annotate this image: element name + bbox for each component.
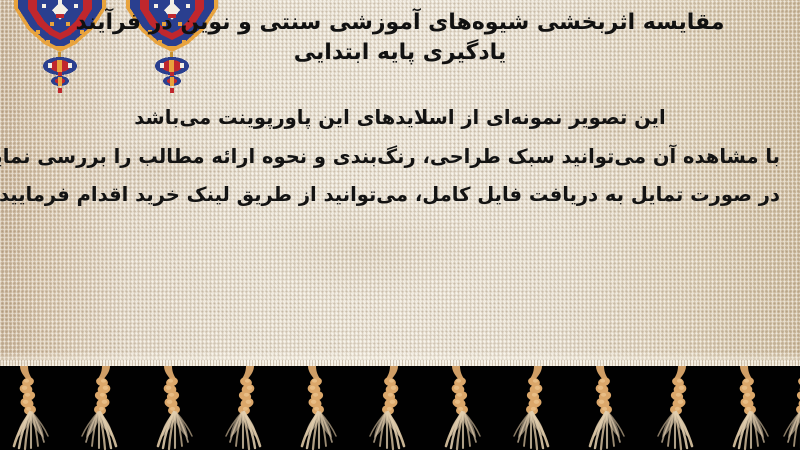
tassel-icon xyxy=(78,366,124,450)
tassel-icon xyxy=(438,366,484,450)
tassel-icon xyxy=(366,366,412,450)
tassel-icon xyxy=(726,366,772,450)
tassel-icon xyxy=(222,366,268,450)
tassel-icon xyxy=(6,366,52,450)
slide-canvas: مقایسه اثربخشی شیوه‌های آموزشی سنتی و نو… xyxy=(0,0,800,450)
tassel-icon xyxy=(294,366,340,450)
tassel-icon xyxy=(510,366,556,450)
carpet-fringe xyxy=(0,366,800,450)
tassel-icon xyxy=(150,366,196,450)
body-line-1: این تصویر نمونه‌ای از اسلایدهای این پاور… xyxy=(20,108,780,128)
slide-body: این تصویر نمونه‌ای از اسلایدهای این پاور… xyxy=(20,108,780,205)
page-title: مقایسه اثربخشی شیوه‌های آموزشی سنتی و نو… xyxy=(40,8,760,69)
body-line-2: با مشاهده آن می‌توانید سبک طراحی، رنگ‌بن… xyxy=(20,147,780,167)
tassel-icon xyxy=(780,366,800,450)
body-line-3: در صورت تمایل به دریافت فایل کامل، می‌تو… xyxy=(20,185,780,205)
tassel-icon xyxy=(582,366,628,450)
tassel-icon xyxy=(654,366,700,450)
